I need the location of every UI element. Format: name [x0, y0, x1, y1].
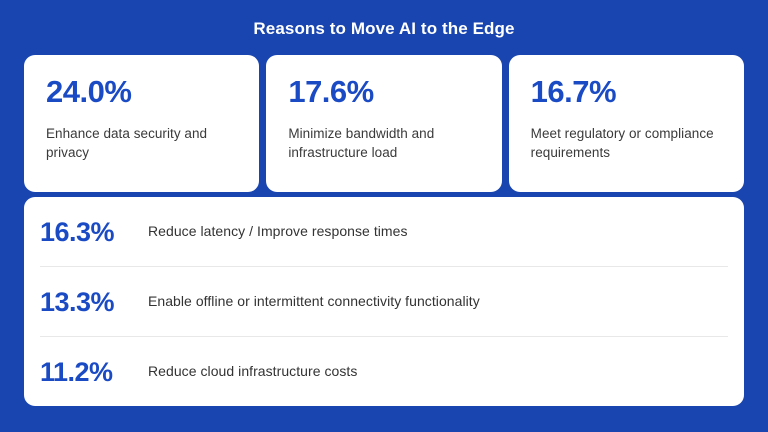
list-percent: 11.2%	[40, 357, 148, 387]
stat-percent: 16.7%	[531, 74, 722, 110]
list-item: 16.3% Reduce latency / Improve response …	[40, 197, 728, 266]
list-percent: 13.3%	[40, 287, 148, 317]
list-label: Reduce cloud infrastructure costs	[148, 362, 357, 381]
stat-label: Minimize bandwidth and infrastructure lo…	[288, 124, 479, 162]
list-label: Reduce latency / Improve response times	[148, 222, 408, 241]
list-percent: 16.3%	[40, 217, 148, 247]
page-title: Reasons to Move AI to the Edge	[0, 18, 768, 40]
list-label: Enable offline or intermittent connectiv…	[148, 292, 480, 311]
stat-card: 17.6% Minimize bandwidth and infrastruct…	[266, 55, 501, 192]
stat-label: Meet regulatory or compliance requiremen…	[531, 124, 722, 162]
stat-percent: 17.6%	[288, 74, 479, 110]
stat-percent: 24.0%	[46, 74, 237, 110]
list-item: 11.2% Reduce cloud infrastructure costs	[40, 336, 728, 406]
list-item: 13.3% Enable offline or intermittent con…	[40, 266, 728, 336]
stat-list-panel: 16.3% Reduce latency / Improve response …	[24, 197, 744, 406]
stat-card: 24.0% Enhance data security and privacy	[24, 55, 259, 192]
infographic-root: Reasons to Move AI to the Edge 24.0% Enh…	[0, 0, 768, 432]
stat-card: 16.7% Meet regulatory or compliance requ…	[509, 55, 744, 192]
top-stat-card-row: 24.0% Enhance data security and privacy …	[24, 55, 744, 192]
stat-label: Enhance data security and privacy	[46, 124, 237, 162]
